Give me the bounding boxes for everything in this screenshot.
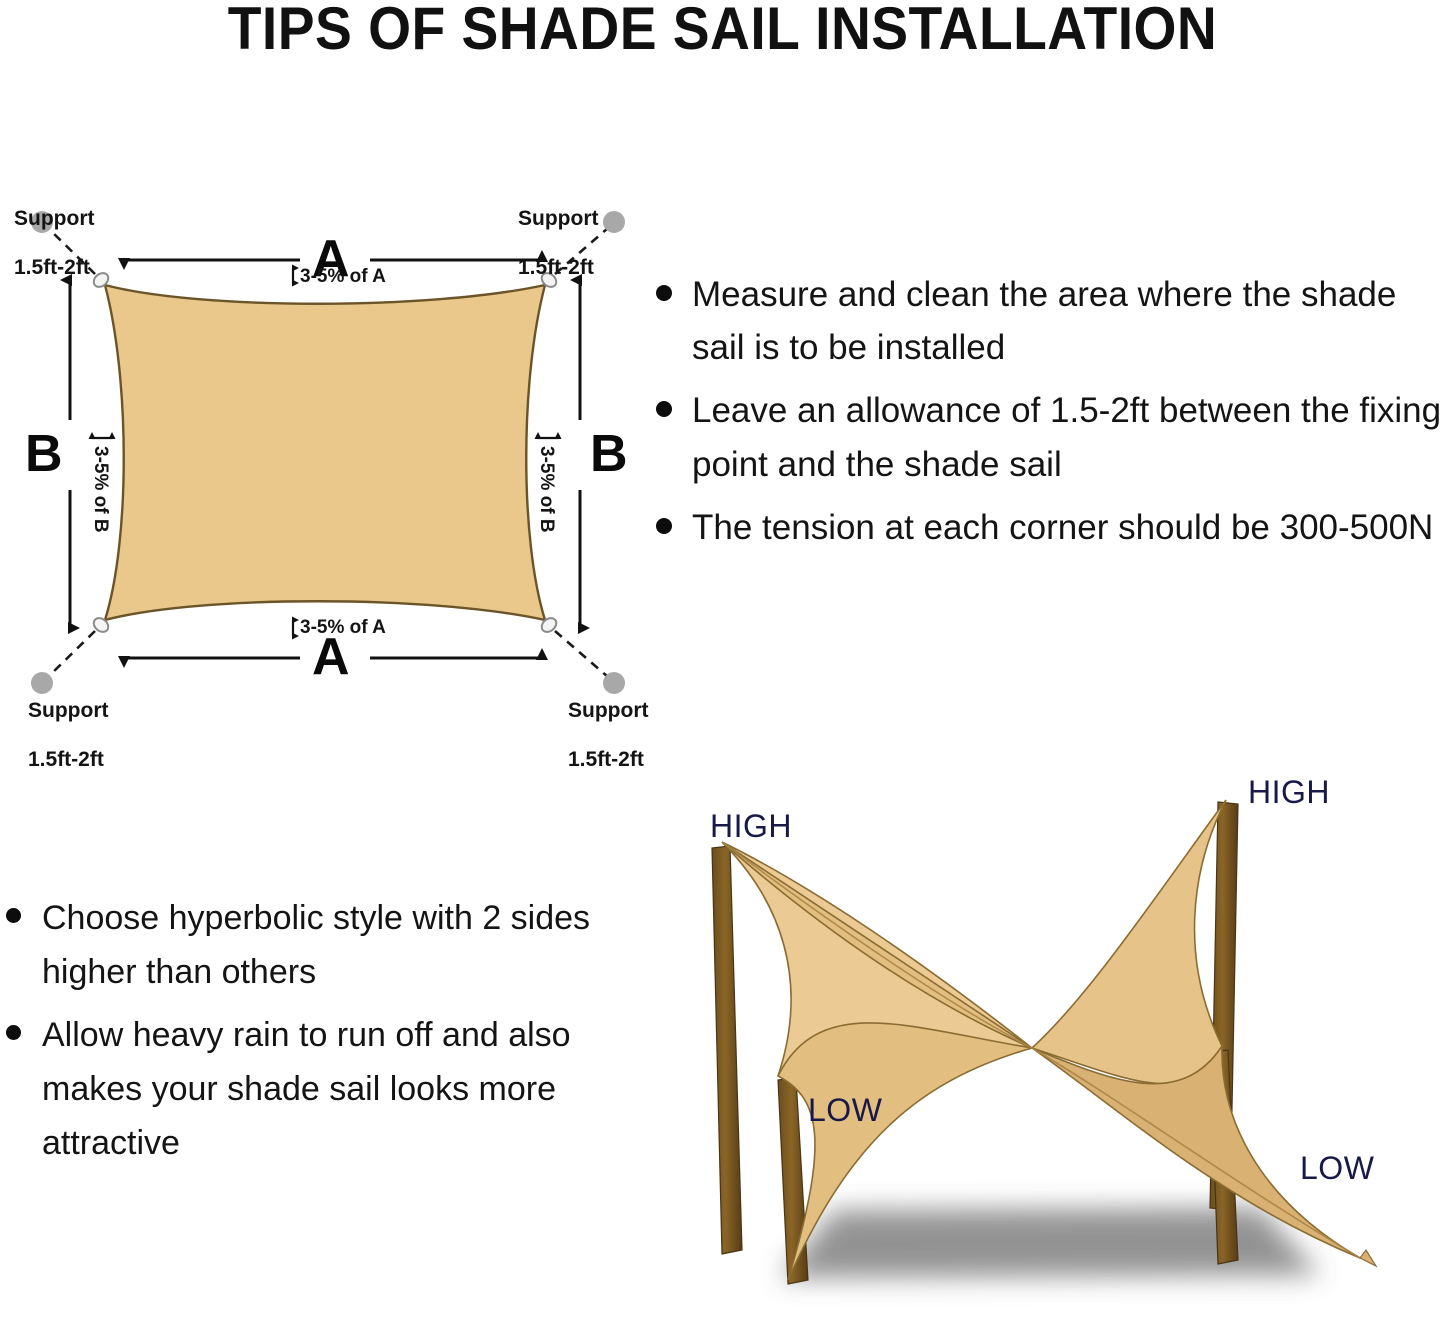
support-label-top-right: Support 1.5ft-2ft — [518, 182, 598, 281]
support-line-1: Support — [568, 699, 648, 722]
page-title: TIPS OF SHADE SAIL INSTALLATION — [58, 0, 1387, 63]
list-item: Leave an allowance of 1.5-2ft between th… — [648, 384, 1445, 490]
support-line-2: 1.5ft-2ft — [518, 256, 594, 279]
dim-letter-bottom-a: A — [312, 631, 350, 683]
label-high-left: HIGH — [710, 808, 792, 845]
bullet-dot-icon — [656, 518, 672, 534]
list-item: Measure and clean the area where the sha… — [648, 268, 1445, 374]
support-label-top-left: Support 1.5ft-2ft — [14, 182, 94, 281]
dim-letter-left-b: B — [25, 428, 63, 480]
curve-callout-left: 3-5% of B — [91, 446, 110, 533]
post-high-left — [712, 846, 742, 1254]
list-item-text: Allow heavy rain to run off and also mak… — [42, 1009, 627, 1170]
curve-callout-right: 3-5% of B — [537, 446, 556, 533]
rectangular-sail-diagram: Support 1.5ft-2ft Support 1.5ft-2ft Supp… — [0, 150, 660, 730]
curve-callout-bottom: 3-5% of A — [300, 618, 386, 637]
ground-shadow — [780, 1208, 1320, 1278]
list-item: Choose hyperbolic style with 2 sides hig… — [2, 892, 627, 999]
curve-callout-top: 3-5% of A — [300, 267, 386, 286]
list-item-text: Choose hyperbolic style with 2 sides hig… — [42, 892, 627, 999]
list-item: The tension at each corner should be 300… — [648, 501, 1445, 554]
post-low-left — [778, 1078, 808, 1284]
label-low-left: LOW — [808, 1092, 882, 1129]
sail-tip-right — [1360, 1250, 1376, 1266]
hyperbolic-sail-diagram: HIGH HIGH LOW LOW — [660, 780, 1445, 1319]
sail-shape — [105, 285, 545, 620]
bullet-dot-icon — [6, 1025, 21, 1040]
hyperbolic-sail-svg — [660, 780, 1445, 1319]
support-label-bottom-left: Support 1.5ft-2ft — [28, 674, 108, 773]
support-line-2: 1.5ft-2ft — [14, 256, 90, 279]
bullet-dot-icon — [656, 285, 672, 301]
list-item-text: The tension at each corner should be 300… — [692, 501, 1445, 554]
list-item-text: Measure and clean the area where the sha… — [692, 268, 1445, 374]
bullet-dot-icon — [656, 401, 672, 417]
bullet-dot-icon — [6, 908, 21, 923]
dim-letter-right-b: B — [590, 428, 628, 480]
installation-tips-list: Measure and clean the area where the sha… — [648, 268, 1445, 564]
support-line-1: Support — [28, 699, 108, 722]
support-line-1: Support — [14, 207, 94, 230]
hyperbolic-tips-list: Choose hyperbolic style with 2 sides hig… — [2, 892, 627, 1181]
support-line-2: 1.5ft-2ft — [28, 748, 104, 771]
support-label-bottom-right: Support 1.5ft-2ft — [568, 674, 648, 773]
label-low-right: LOW — [1300, 1150, 1374, 1187]
infographic-page: TIPS OF SHADE SAIL INSTALLATION — [0, 0, 1445, 1319]
label-high-right: HIGH — [1248, 774, 1330, 811]
support-line-1: Support — [518, 207, 598, 230]
support-line-2: 1.5ft-2ft — [568, 748, 644, 771]
list-item: Allow heavy rain to run off and also mak… — [2, 1009, 627, 1170]
list-item-text: Leave an allowance of 1.5-2ft between th… — [692, 384, 1445, 490]
sail-lobe-right-upper — [1032, 800, 1226, 1084]
